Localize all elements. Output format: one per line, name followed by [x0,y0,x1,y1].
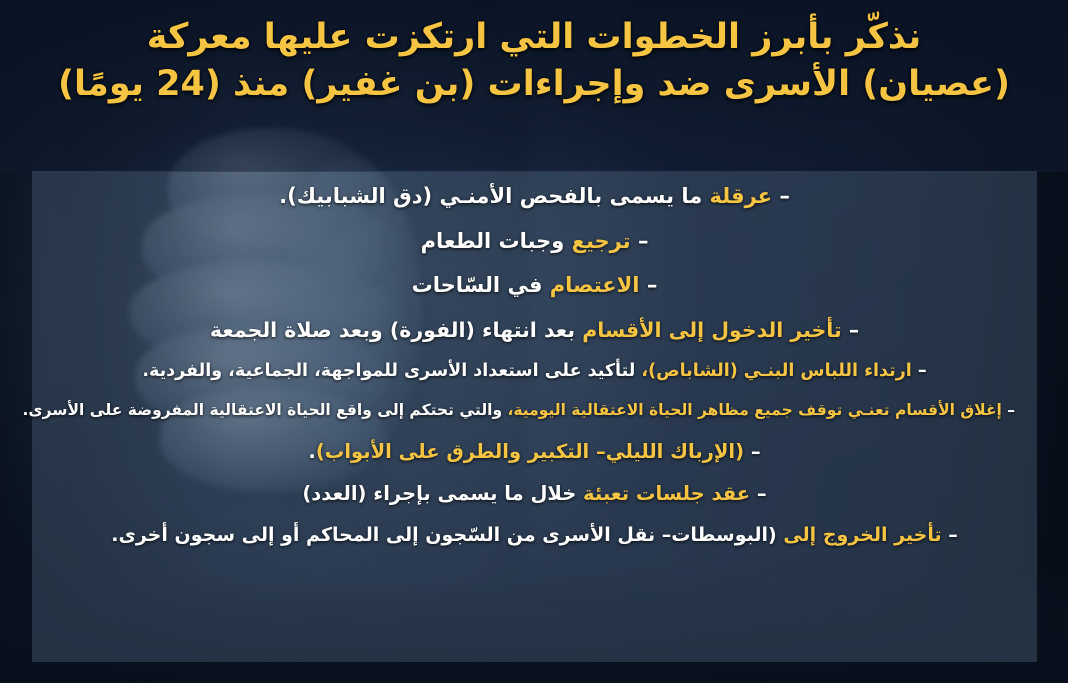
bullet-text: لتأكيد على استعداد الأسرى للمواجهة، الجم… [142,361,641,381]
list-item: – الاعتصام في السّاحات [54,274,1015,298]
infographic-poster: نذكّر بأبرز الخطوات التي ارتكزت عليها مع… [0,0,1068,683]
bullet-dash: – [918,361,927,381]
bullet-text: في السّاحات [412,273,550,297]
bullet-dash: – [948,524,958,546]
title-line-1: نذكّر بأبرز الخطوات التي ارتكزت عليها مع… [26,14,1042,61]
list-item: – ارتداء اللباس البنـي (الشاباص)، لتأكيد… [54,362,1015,382]
list-item: – تأخير الدخول إلى الأقسام بعد انتهاء (ا… [54,319,1015,342]
bullet-text: خلال ما يسمى بإجراء (العدد) [302,482,583,505]
bullet-highlight: (الإرباك الليلي– التكبير والطرق على الأب… [316,440,744,463]
list-item: – ترجيع وجبات الطعام [54,230,1015,254]
bullet-text: والتي تحتكم إلى واقع الحياة الاعتقالية ا… [23,401,508,419]
list-item: – (الإرباك الليلي– التكبير والطرق على ال… [54,441,1015,463]
bullet-text: . [308,440,315,463]
bullet-highlight: تأخير الخروج إلى [783,524,941,546]
bullet-highlight: ترجيع [572,229,631,253]
bullet-highlight: إغلاق الأقسام تعنـي توقف جميع مظاهر الحي… [508,401,1002,419]
bullet-text: ما يسمى بالفحص الأمنـي (دق الشبابيك). [279,184,709,208]
poster-title: نذكّر بأبرز الخطوات التي ارتكزت عليها مع… [0,14,1068,108]
content-panel: – عرقلة ما يسمى بالفحص الأمنـي (دق الشبا… [32,171,1037,662]
bullet-dash: – [638,229,649,253]
bullet-highlight: تأخير الدخول إلى الأقسام [582,318,841,342]
title-line-2: (عصيان) الأسرى ضد وإجراءات (بن غفير) منذ… [26,61,1042,108]
list-item: – عقد جلسات تعبئة خلال ما يسمى بإجراء (ا… [54,483,1015,505]
bullet-text: بعد انتهاء (الفورة) وبعد صلاة الجمعة [210,318,582,342]
bullet-highlight: ارتداء اللباس البنـي (الشاباص)، [641,361,911,381]
bullet-dash: – [757,482,767,505]
bullet-highlight: عقد جلسات تعبئة [583,482,750,505]
bullet-text: (البوسطات– نقل الأسرى من السّجون إلى الم… [111,524,783,546]
bullet-highlight: الاعتصام [550,273,640,297]
list-item: – إغلاق الأقسام تعنـي توقف جميع مظاهر ال… [54,402,1015,419]
bullet-dash: – [647,273,658,297]
bullet-text: وجبات الطعام [421,229,572,253]
bullet-dash: – [779,184,790,208]
bullet-list: – عرقلة ما يسمى بالفحص الأمنـي (دق الشبا… [32,171,1037,662]
list-item: – تأخير الخروج إلى (البوسطات– نقل الأسرى… [54,525,1015,546]
bullet-highlight: عرقلة [710,184,772,208]
list-item: – عرقلة ما يسمى بالفحص الأمنـي (دق الشبا… [54,185,1015,209]
bullet-dash: – [1007,401,1015,419]
bullet-dash: – [849,318,859,342]
bullet-dash: – [751,440,761,463]
